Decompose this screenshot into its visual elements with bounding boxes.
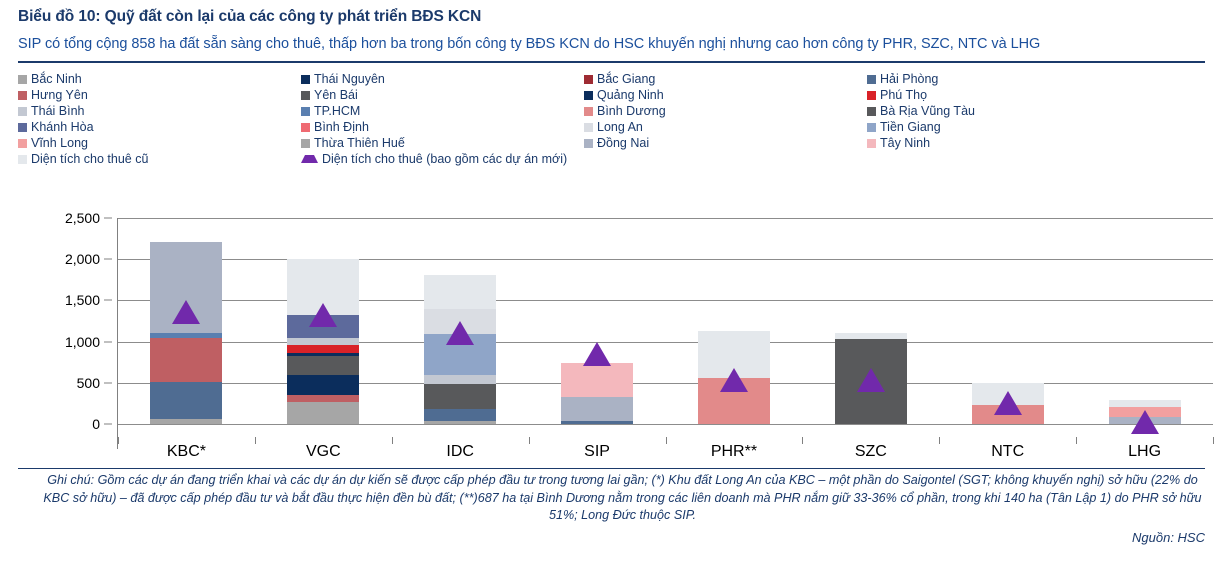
x-axis-label: SZC <box>802 443 939 467</box>
legend-item[interactable]: Yên Bái <box>301 87 584 103</box>
legend-item-label: Long An <box>597 120 643 134</box>
x-axis-ticks <box>118 437 1213 438</box>
legend-swatch-icon <box>867 91 876 100</box>
legend-item[interactable]: Bắc Giang <box>584 71 867 87</box>
legend-item-label: Hải Phòng <box>880 72 938 86</box>
legend-item-label: Tiền Giang <box>880 120 941 134</box>
y-axis-tick-mark <box>104 218 112 219</box>
page-subtitle: SIP có tổng cộng 858 ha đất sẵn sàng cho… <box>18 34 1205 55</box>
bar-segment[interactable] <box>287 395 359 402</box>
legend-item[interactable]: Quảng Ninh <box>584 87 867 103</box>
x-axis-label: NTC <box>939 443 1076 467</box>
y-axis-tick-label: 0 <box>92 416 100 432</box>
x-axis-tick-mark <box>1213 437 1214 444</box>
leasable-area-marker[interactable] <box>583 342 611 366</box>
leasable-area-marker[interactable] <box>994 391 1022 415</box>
chart-source: Nguồn: HSC <box>1132 530 1205 545</box>
x-axis-labels: KBC*VGCIDCSIPPHR**SZCNTCLHG <box>118 443 1213 467</box>
legend-swatch-icon <box>584 107 593 116</box>
y-axis-tick-mark <box>104 300 112 301</box>
legend-item-label: Bà Rịa Vũng Tàu <box>880 104 975 118</box>
legend-swatch-icon <box>301 91 310 100</box>
legend-item-label: Yên Bái <box>314 88 358 102</box>
legend-item-label: Đồng Nai <box>597 136 649 150</box>
x-axis-label: SIP <box>529 443 666 467</box>
legend-swatch-icon <box>584 123 593 132</box>
y-axis-tick-mark <box>104 424 112 425</box>
bar-column[interactable] <box>255 205 392 437</box>
x-axis-label: PHR** <box>666 443 803 467</box>
legend-item[interactable]: Hải Phòng <box>867 71 1157 87</box>
legend-item-label: Quảng Ninh <box>597 88 664 102</box>
y-axis-tick-label: 1,000 <box>65 334 100 350</box>
legend-item[interactable]: Tây Ninh <box>867 135 1157 151</box>
chart-legend: Bắc NinhThái NguyênBắc GiangHải PhòngHưn… <box>0 71 1223 159</box>
legend-item-label: Thừa Thiên Huế <box>314 136 405 150</box>
legend-item[interactable]: Hưng Yên <box>18 87 301 103</box>
bar-segment[interactable] <box>287 356 359 375</box>
legend-swatch-icon <box>18 155 27 164</box>
legend-item[interactable]: Long An <box>584 119 867 135</box>
y-axis-tick-mark <box>104 259 112 260</box>
chart-page: Biểu đồ 10: Quỹ đất còn lại của các công… <box>0 0 1223 567</box>
bar-segment[interactable] <box>150 382 222 419</box>
bar-segment[interactable] <box>561 421 633 424</box>
legend-item-label: Tây Ninh <box>880 136 930 150</box>
legend-swatch-icon <box>18 91 27 100</box>
legend-item[interactable]: Diện tích cho thuê (bao gồm các dự án mớ… <box>301 151 1157 167</box>
bar-segment[interactable] <box>561 363 633 398</box>
legend-item-label: Vĩnh Long <box>31 136 88 150</box>
stacked-bar[interactable] <box>150 242 222 424</box>
legend-item-label: Bắc Giang <box>597 72 655 86</box>
legend-item[interactable]: TP.HCM <box>301 103 584 119</box>
bar-segment[interactable] <box>287 345 359 353</box>
bar-segment[interactable] <box>424 275 496 309</box>
bar-segment[interactable] <box>287 402 359 424</box>
y-axis-tick-label: 2,000 <box>65 251 100 267</box>
legend-item[interactable]: Phú Thọ <box>867 87 1157 103</box>
legend-grid: Bắc NinhThái NguyênBắc GiangHải PhòngHưn… <box>18 71 1205 167</box>
legend-item-label: Bình Định <box>314 120 369 134</box>
stacked-bar[interactable] <box>561 363 633 424</box>
legend-item-label: Bình Dương <box>597 104 666 118</box>
plot-area: 2,5002,0001,5001,0005000 KBC*VGCIDCSIPPH… <box>0 205 1223 455</box>
stacked-bar[interactable] <box>424 275 496 424</box>
chart-header: Biểu đồ 10: Quỹ đất còn lại của các công… <box>0 0 1223 55</box>
y-axis-tick-label: 2,500 <box>65 210 100 226</box>
bar-segment[interactable] <box>1109 400 1181 407</box>
leasable-area-marker[interactable] <box>172 300 200 324</box>
legend-triangle-icon <box>301 155 318 163</box>
legend-swatch-icon <box>301 107 310 116</box>
bar-column[interactable] <box>1076 205 1213 437</box>
legend-swatch-icon <box>584 139 593 148</box>
legend-item-label: Phú Thọ <box>880 88 927 102</box>
legend-item[interactable]: Khánh Hòa <box>18 119 301 135</box>
legend-item-label: Bắc Ninh <box>31 72 82 86</box>
bar-segment[interactable] <box>150 419 222 424</box>
bar-segment[interactable] <box>150 338 222 382</box>
y-axis-tick-label: 1,500 <box>65 292 100 308</box>
legend-swatch-icon <box>18 139 27 148</box>
legend-item[interactable]: Đồng Nai <box>584 135 867 151</box>
legend-item[interactable]: Diện tích cho thuê cũ <box>18 151 301 167</box>
y-axis-tick-label: 500 <box>77 375 100 391</box>
legend-item[interactable]: Bà Rịa Vũng Tàu <box>867 103 1157 119</box>
legend-swatch-icon <box>867 107 876 116</box>
bar-segment[interactable] <box>287 375 359 394</box>
leasable-area-marker[interactable] <box>309 303 337 327</box>
footer-divider <box>18 468 1205 469</box>
legend-swatch-icon <box>301 123 310 132</box>
legend-item[interactable]: Vĩnh Long <box>18 135 301 151</box>
legend-item-label: Diện tích cho thuê cũ <box>31 152 148 166</box>
legend-swatch-icon <box>301 75 310 84</box>
page-title: Biểu đồ 10: Quỹ đất còn lại của các công… <box>18 6 1205 27</box>
legend-swatch-icon <box>584 75 593 84</box>
legend-item[interactable]: Bình Định <box>301 119 584 135</box>
x-axis-label: VGC <box>255 443 392 467</box>
y-axis-tick-mark <box>104 382 112 383</box>
legend-item-label: TP.HCM <box>314 104 360 118</box>
leasable-area-marker[interactable] <box>1131 410 1159 434</box>
x-axis-label: IDC <box>392 443 529 467</box>
bar-segment[interactable] <box>424 421 496 424</box>
leasable-area-marker[interactable] <box>857 368 885 392</box>
y-axis-tick-mark <box>104 341 112 342</box>
legend-swatch-icon <box>867 139 876 148</box>
y-axis: 2,5002,0001,5001,0005000 <box>0 205 118 437</box>
bar-column[interactable] <box>118 205 255 437</box>
x-axis-label: KBC* <box>118 443 255 467</box>
bar-column[interactable] <box>666 205 803 437</box>
legend-item[interactable]: Thái Bình <box>18 103 301 119</box>
leasable-area-marker[interactable] <box>720 368 748 392</box>
legend-swatch-icon <box>301 139 310 148</box>
legend-item-label: Hưng Yên <box>31 88 88 102</box>
legend-item-label: Thái Bình <box>31 104 85 118</box>
legend-swatch-icon <box>18 107 27 116</box>
bar-segment[interactable] <box>424 409 496 421</box>
bar-segment[interactable] <box>561 397 633 421</box>
chart-note: Ghi chú: Gồm các dự án đang triển khai v… <box>40 472 1205 525</box>
x-axis-label: LHG <box>1076 443 1213 467</box>
legend-swatch-icon <box>18 123 27 132</box>
legend-swatch-icon <box>584 91 593 100</box>
legend-swatch-icon <box>18 75 27 84</box>
legend-swatch-icon <box>867 123 876 132</box>
bar-column[interactable] <box>939 205 1076 437</box>
legend-item[interactable]: Tiền Giang <box>867 119 1157 135</box>
legend-swatch-icon <box>867 75 876 84</box>
legend-item[interactable]: Bình Dương <box>584 103 867 119</box>
bar-segment[interactable] <box>424 384 496 409</box>
bar-column[interactable] <box>529 205 666 437</box>
legend-item-label: Diện tích cho thuê (bao gồm các dự án mớ… <box>322 152 567 166</box>
header-divider <box>18 61 1205 63</box>
bar-column[interactable] <box>802 205 939 437</box>
legend-item[interactable]: Thừa Thiên Huế <box>301 135 584 151</box>
bar-segment[interactable] <box>424 375 496 384</box>
leasable-area-marker[interactable] <box>446 321 474 345</box>
legend-item[interactable]: Thái Nguyên <box>301 71 584 87</box>
bar-column[interactable] <box>392 205 529 437</box>
legend-item-label: Thái Nguyên <box>314 72 385 86</box>
bar-group <box>118 205 1213 437</box>
legend-item[interactable]: Bắc Ninh <box>18 71 301 87</box>
stacked-bar[interactable] <box>287 259 359 424</box>
legend-item-label: Khánh Hòa <box>31 120 94 134</box>
